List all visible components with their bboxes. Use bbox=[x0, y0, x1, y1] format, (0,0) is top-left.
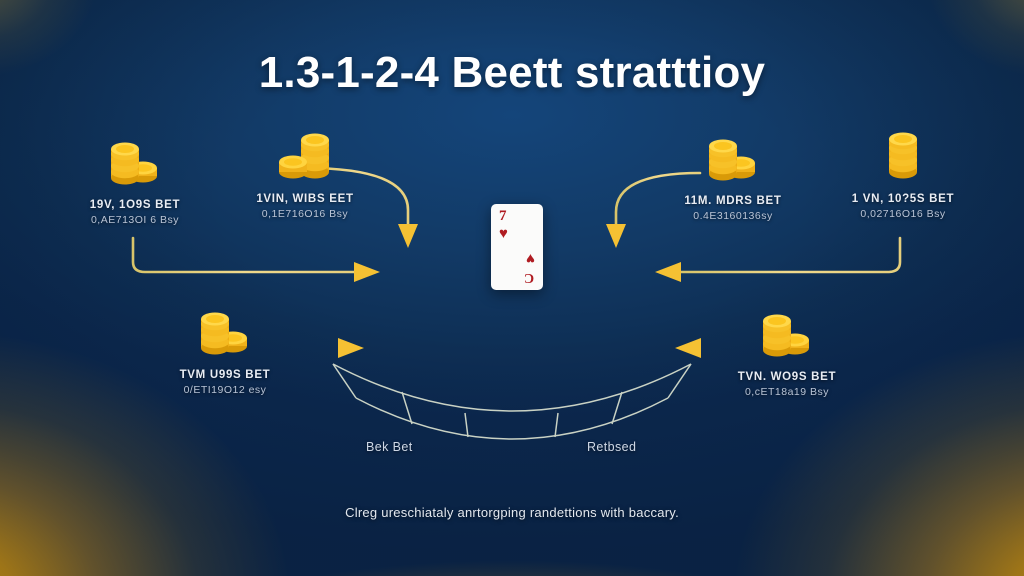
bet-node-sub: 0,cET18a19 Bsy bbox=[692, 386, 882, 400]
playing-card: 7 ♥ ♥ C bbox=[491, 204, 543, 290]
coin-stack-icon bbox=[701, 134, 765, 186]
bet-node[interactable]: 1 VN, 10?5S BET 0,02716O16 Bsy bbox=[808, 132, 998, 222]
coin-stack-icon bbox=[755, 310, 819, 362]
bet-node[interactable]: 19V, 1O9S BET 0,AE713OI 6 Bsy bbox=[40, 138, 230, 228]
bet-node[interactable]: 11M. MDRS BET 0.4E3160136sy bbox=[638, 134, 828, 224]
table-label-left: Bek Bet bbox=[366, 440, 413, 454]
heart-suit-icon: ♥ bbox=[499, 226, 508, 241]
coin-stack-icon bbox=[193, 308, 257, 360]
card-corner-rank: C bbox=[524, 270, 534, 284]
bet-node-sub: 0.4E3160136sy bbox=[638, 210, 828, 224]
bet-node-label: TVM U99S BET bbox=[130, 368, 320, 382]
bet-node[interactable]: TVM U99S BET 0/ETI19O12 esy bbox=[130, 308, 320, 398]
footer-caption: Clreg ureschiataly anrtorgping randettio… bbox=[0, 505, 1024, 520]
coin-stack-icon bbox=[103, 138, 167, 190]
baccarat-table-arc bbox=[330, 362, 694, 448]
bet-node-sub: 0,AE713OI 6 Bsy bbox=[40, 214, 230, 228]
bet-node[interactable]: 1VIN, WIBS EET 0,1E716O16 Bsy bbox=[210, 132, 400, 222]
bet-node-label: 1VIN, WIBS EET bbox=[210, 192, 400, 206]
infographic-canvas: 1.3-1-2-4 Beett stratttioy bbox=[0, 0, 1024, 576]
bet-node-label: 19V, 1O9S BET bbox=[40, 198, 230, 212]
coin-stack-icon bbox=[871, 132, 935, 184]
bet-node-label: 1 VN, 10?5S BET bbox=[808, 192, 998, 206]
bet-node-sub: 0,1E716O16 Bsy bbox=[210, 208, 400, 222]
bet-node-sub: 0/ETI19O12 esy bbox=[130, 384, 320, 398]
bet-node-label: TVN. WO9S BET bbox=[692, 370, 882, 384]
heart-suit-icon: ♥ bbox=[526, 251, 535, 266]
bet-node-sub: 0,02716O16 Bsy bbox=[808, 208, 998, 222]
coin-stack-icon bbox=[273, 132, 337, 184]
page-title: 1.3-1-2-4 Beett stratttioy bbox=[0, 48, 1024, 98]
bet-node-label: 11M. MDRS BET bbox=[638, 194, 828, 208]
bet-node[interactable]: TVN. WO9S BET 0,cET18a19 Bsy bbox=[692, 310, 882, 400]
card-rank: 7 bbox=[499, 209, 507, 224]
table-label-right: Retbsed bbox=[587, 440, 636, 454]
